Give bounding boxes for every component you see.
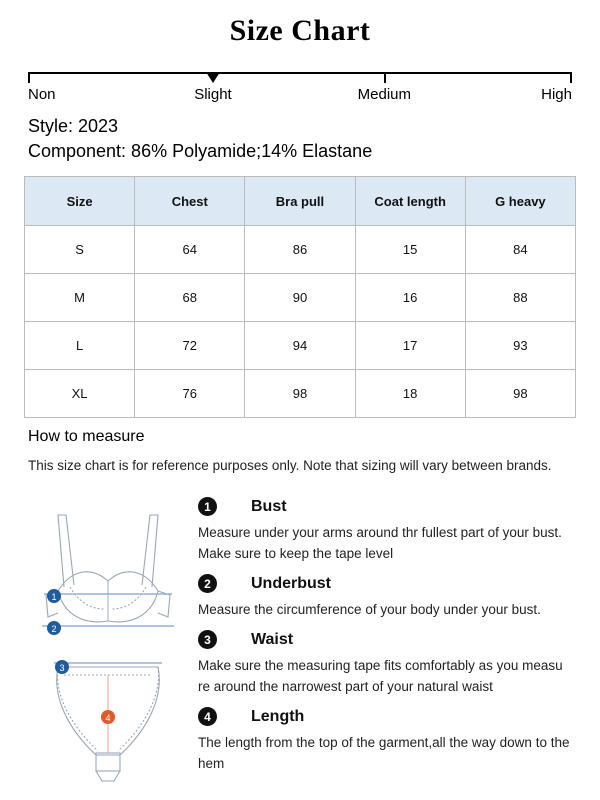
product-meta: Style: 2023 Component: 86% Polyamide;14%… <box>28 114 572 164</box>
bra-marker-1-label: 1 <box>51 592 56 602</box>
scale-label-medium: Medium <box>358 86 411 103</box>
table-row: M 68 90 16 88 <box>25 274 576 322</box>
cell-bra-pull: 94 <box>245 322 355 370</box>
bra-marker-2-label: 2 <box>51 624 56 634</box>
scale-marker-triangle-icon <box>206 72 220 83</box>
cell-g-heavy: 98 <box>465 370 575 418</box>
instruction-1-title: Bust <box>251 498 287 516</box>
instruction-2-badge-icon: 2 <box>198 574 217 593</box>
instruction-4-body: The length from the top of the garment,a… <box>198 732 576 774</box>
cell-coat-length: 18 <box>355 370 465 418</box>
instruction-4-badge-icon: 4 <box>198 707 217 726</box>
cell-size: M <box>25 274 135 322</box>
cell-chest: 64 <box>135 226 245 274</box>
instruction-1-body: Measure under your arms around thr fulle… <box>198 522 576 564</box>
stretch-scale: Non Slight Medium High <box>28 62 572 108</box>
table-row: XL 76 98 18 98 <box>25 370 576 418</box>
garment-illustrations: 1 2 3 4 <box>24 495 192 795</box>
instruction-1-head: 1 Bust <box>198 497 576 516</box>
cell-size: L <box>25 322 135 370</box>
size-table: Size Chest Bra pull Coat length G heavy … <box>24 176 576 418</box>
panty-marker-4-label: 4 <box>105 713 110 723</box>
scale-label-non: Non <box>28 86 56 103</box>
cell-bra-pull: 90 <box>245 274 355 322</box>
page-title: Size Chart <box>0 0 600 48</box>
cell-size: S <box>25 226 135 274</box>
cell-bra-pull: 98 <box>245 370 355 418</box>
cell-coat-length: 15 <box>355 226 465 274</box>
measure-instructions: 1 Bust Measure under your arms around th… <box>192 495 576 795</box>
cell-chest: 72 <box>135 322 245 370</box>
instruction-2-head: 2 Underbust <box>198 574 576 593</box>
size-table-wrap: Size Chest Bra pull Coat length G heavy … <box>24 176 576 418</box>
column-header-bra-pull: Bra pull <box>245 177 355 226</box>
component-line: Component: 86% Polyamide;14% Elastane <box>28 139 572 164</box>
scale-label-high: High <box>541 86 572 103</box>
panty-marker-3-label: 3 <box>59 663 64 673</box>
instruction-4-head: 4 Length <box>198 707 576 726</box>
how-to-measure-note: This size chart is for reference purpose… <box>28 458 572 473</box>
scale-tick-high <box>570 72 572 83</box>
scale-labels: Non Slight Medium High <box>28 86 572 106</box>
column-header-size: Size <box>25 177 135 226</box>
style-line: Style: 2023 <box>28 114 572 139</box>
cell-size: XL <box>25 370 135 418</box>
instruction-3-head: 3 Waist <box>198 630 576 649</box>
how-to-measure-section: How to measure This size chart is for re… <box>28 428 572 473</box>
bra-illustration: 1 2 <box>24 495 192 645</box>
instruction-2-body: Measure the circumference of your body u… <box>198 599 576 620</box>
cell-g-heavy: 88 <box>465 274 575 322</box>
scale-label-slight: Slight <box>194 86 232 103</box>
cell-g-heavy: 93 <box>465 322 575 370</box>
table-row: S 64 86 15 84 <box>25 226 576 274</box>
cell-coat-length: 17 <box>355 322 465 370</box>
instruction-3-title: Waist <box>251 631 293 649</box>
column-header-chest: Chest <box>135 177 245 226</box>
cell-g-heavy: 84 <box>465 226 575 274</box>
table-header-row: Size Chest Bra pull Coat length G heavy <box>25 177 576 226</box>
measure-guide: 1 2 3 4 1 <box>24 495 576 795</box>
column-header-coat-length: Coat length <box>355 177 465 226</box>
instruction-2-title: Underbust <box>251 575 331 593</box>
instruction-3-badge-icon: 3 <box>198 630 217 649</box>
instruction-3-body: Make sure the measuring tape fits comfor… <box>198 655 576 697</box>
scale-tick-medium <box>384 72 386 83</box>
cell-bra-pull: 86 <box>245 226 355 274</box>
instruction-4-title: Length <box>251 708 304 726</box>
column-header-g-heavy: G heavy <box>465 177 575 226</box>
instruction-1-badge-icon: 1 <box>198 497 217 516</box>
cell-chest: 68 <box>135 274 245 322</box>
panty-illustration: 3 4 <box>24 645 192 795</box>
cell-coat-length: 16 <box>355 274 465 322</box>
scale-line <box>28 72 572 74</box>
scale-tick-non <box>28 72 30 83</box>
table-row: L 72 94 17 93 <box>25 322 576 370</box>
how-to-measure-title: How to measure <box>28 428 572 446</box>
cell-chest: 76 <box>135 370 245 418</box>
